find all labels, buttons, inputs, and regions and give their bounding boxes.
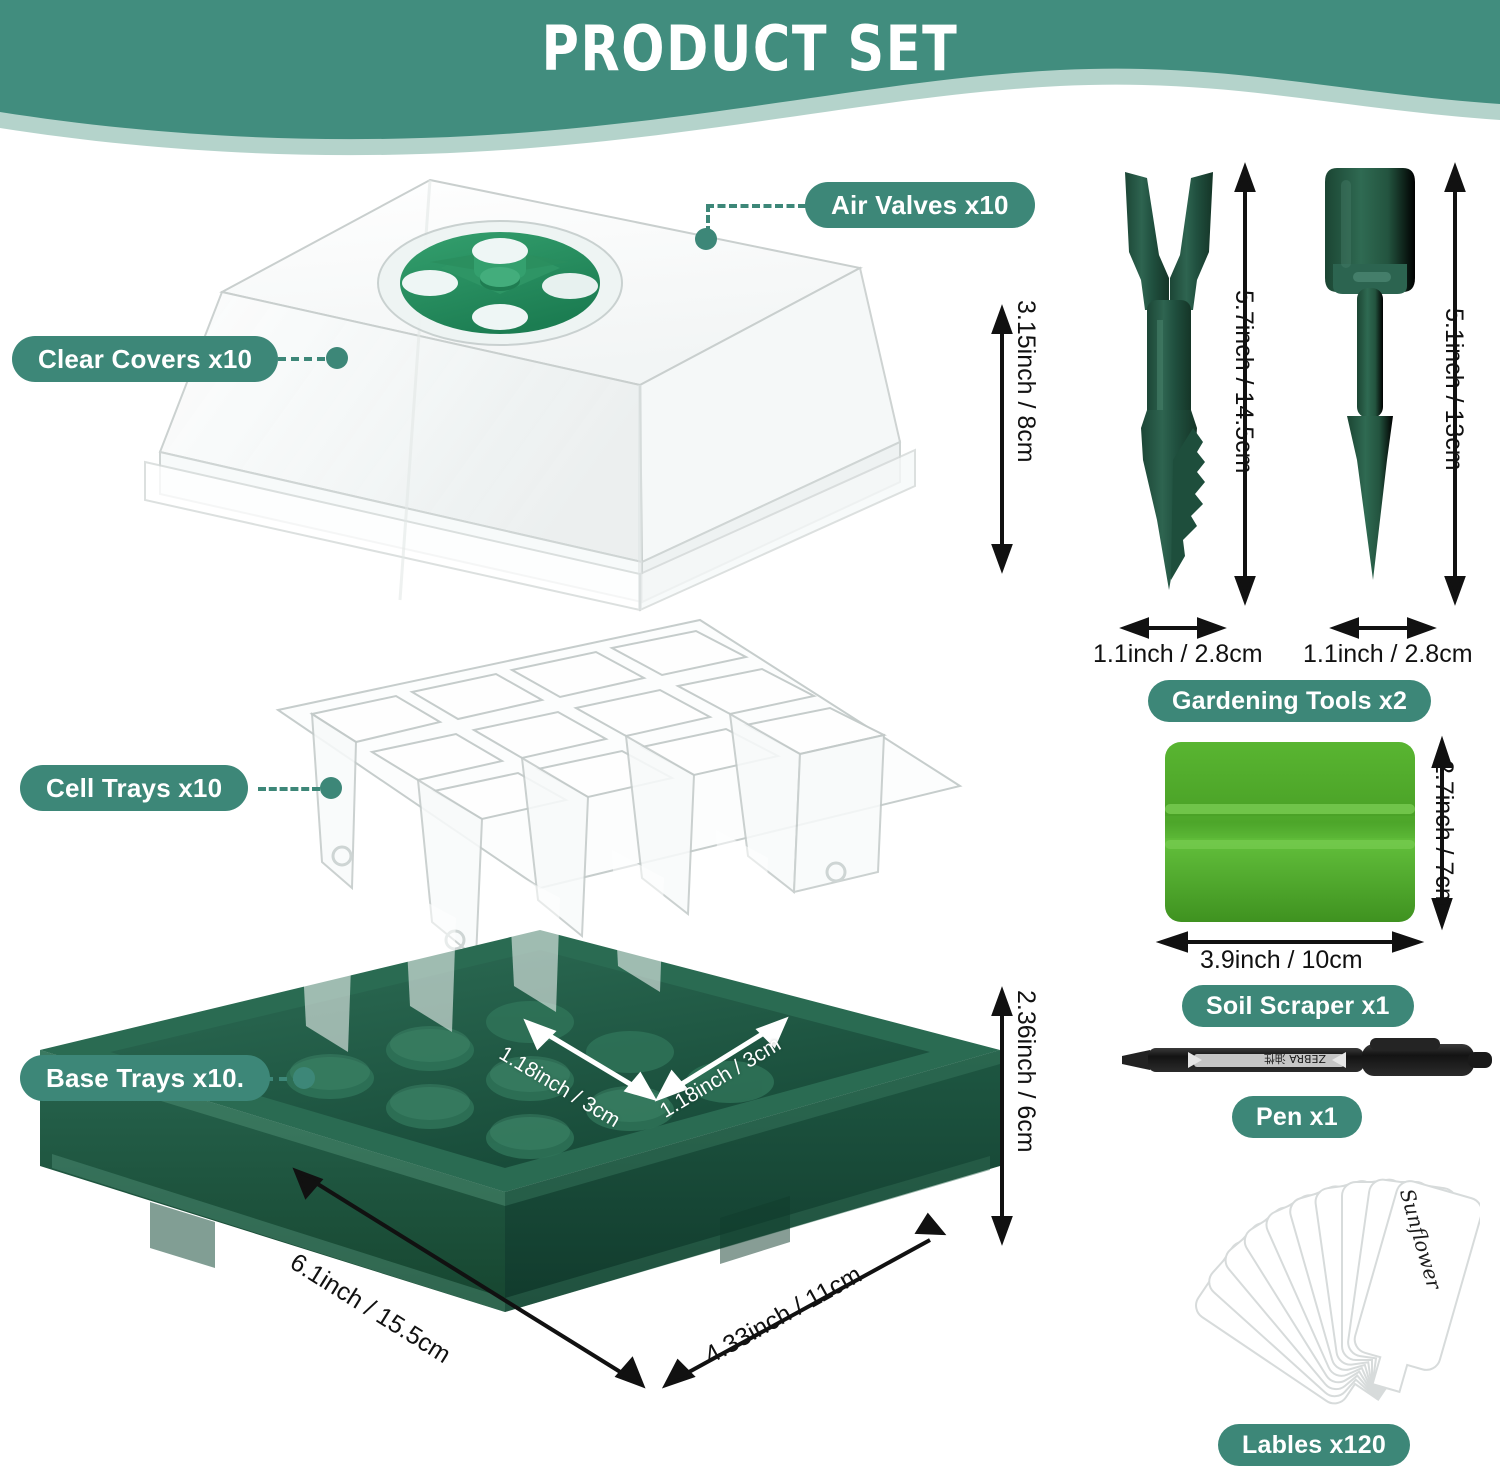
section-label-pen[interactable]: Pen x1 [1232, 1096, 1362, 1138]
callout-air-valves-label: Air Valves x10 [831, 190, 1009, 221]
dim-base-height: 2.36inch / 6cm [1011, 990, 1040, 1153]
dim-scraper-height: 2.7inch / 7cm [1429, 760, 1458, 909]
cell-trays-connector-line [258, 787, 320, 791]
callout-cell-trays[interactable]: Cell Trays x10 [20, 765, 248, 811]
page-title: PRODUCT SET [135, 12, 1365, 85]
dim-tool2-height: 5.1inch / 13cm [1439, 308, 1468, 471]
dim-tool2-width: 1.1inch / 2.8cm [1303, 640, 1473, 669]
gardening-tools-illustration [1085, 160, 1500, 660]
air-valve-illustration [378, 221, 622, 345]
dim-tool1-width: 1.1inch / 2.8cm [1093, 640, 1263, 669]
section-label-soil-scraper-text: Soil Scraper x1 [1206, 992, 1390, 1021]
callout-air-valves[interactable]: Air Valves x10 [805, 182, 1035, 228]
section-label-lables-text: Lables x120 [1242, 1431, 1386, 1460]
section-label-pen-text: Pen x1 [1256, 1103, 1338, 1132]
dim-scraper-width: 3.9inch / 10cm [1200, 946, 1363, 975]
plant-labels-illustration [1110, 1170, 1480, 1420]
scoop-dibber-tool [1325, 168, 1415, 580]
svg-text:ZEBRA 油性: ZEBRA 油性 [1264, 1052, 1326, 1066]
product-set-infographic: PRODUCT SET [0, 0, 1500, 1480]
base-trays-anchor-dot [293, 1067, 315, 1089]
clear-covers-anchor-dot [326, 347, 348, 369]
dim-tool1-height: 5.7inch / 14.5cm [1229, 290, 1258, 473]
callout-clear-covers[interactable]: Clear Covers x10 [12, 336, 278, 382]
section-label-gardening-tools-text: Gardening Tools x2 [1172, 687, 1407, 716]
callout-clear-covers-label: Clear Covers x10 [38, 344, 252, 375]
pen-illustration: ZEBRA 油性 [1090, 1030, 1500, 1100]
callout-cell-trays-label: Cell Trays x10 [46, 773, 222, 804]
weeder-trowel-tool [1125, 172, 1213, 590]
callout-base-trays-label: Base Trays x10. [46, 1063, 244, 1094]
clear-covers-connector-line [265, 357, 325, 361]
callout-base-trays[interactable]: Base Trays x10. [20, 1055, 270, 1101]
air-valves-connector-line [706, 204, 806, 208]
section-label-soil-scraper[interactable]: Soil Scraper x1 [1182, 985, 1414, 1027]
section-label-lables[interactable]: Lables x120 [1218, 1424, 1410, 1466]
cell-trays-anchor-dot [320, 777, 342, 799]
dim-cover-height: 3.15inch / 8cm [1011, 300, 1040, 463]
section-label-gardening-tools[interactable]: Gardening Tools x2 [1148, 680, 1431, 722]
air-valves-anchor-dot [695, 228, 717, 250]
